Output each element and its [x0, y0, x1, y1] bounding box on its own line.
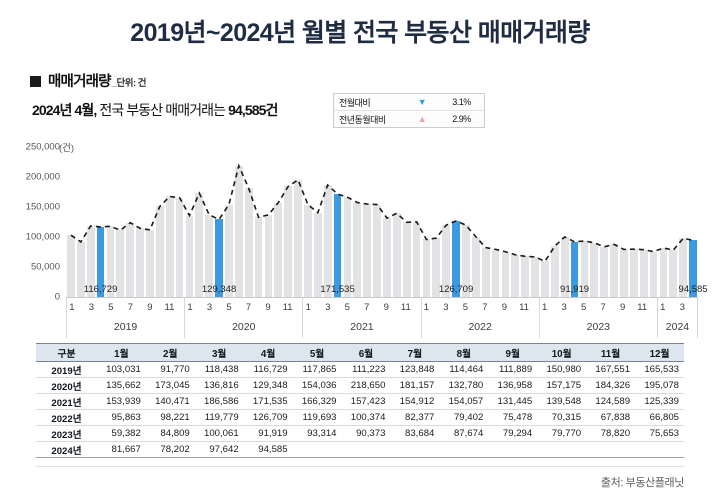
- bar: [383, 218, 391, 297]
- x-axis-tick: 9: [145, 302, 155, 313]
- bar-slot: [283, 147, 293, 297]
- bar: [610, 244, 618, 297]
- comparison-value-yoy: 2.9%: [439, 114, 484, 124]
- table-cell: 83,684: [390, 426, 439, 442]
- bar: [126, 223, 134, 297]
- bar-slot: [471, 147, 481, 297]
- bar-slot: [668, 147, 678, 297]
- bar: [324, 185, 332, 297]
- table-body: 2019년103,03191,770118,438116,729117,8651…: [36, 362, 684, 458]
- table-cell: [635, 442, 684, 458]
- bar: [531, 257, 539, 297]
- table-column-header: 10월: [537, 344, 586, 362]
- x-axis-tick: 5: [106, 302, 116, 313]
- bar-slot: [649, 147, 659, 297]
- bar-group: 116,729129,348171,535126,70991,91994,585: [66, 147, 698, 297]
- table-cell: 129,348: [244, 378, 293, 394]
- bar-slot: [343, 147, 353, 297]
- x-axis-year-group: 13579112020: [184, 298, 302, 338]
- y-axis-tick: 0: [55, 292, 60, 303]
- table-cell: 111,889: [488, 362, 537, 378]
- table-row-header: 2019년: [36, 362, 97, 378]
- bar-slot: [589, 147, 599, 297]
- y-axis: (건) 050,000100,000150,000200,000250,000: [0, 140, 66, 300]
- bar: [353, 203, 361, 297]
- bar: [502, 252, 510, 297]
- bar: [511, 255, 519, 297]
- bar-value-label: 129,348: [202, 284, 236, 295]
- triangle-up-icon: ▲: [405, 115, 439, 124]
- bar-slot: 116,729: [96, 147, 106, 297]
- y-axis-tick: 250,000: [26, 142, 60, 153]
- table-cell: 157,175: [537, 378, 586, 394]
- comparison-row-yoy: 전년동월대비 ▲ 2.9%: [334, 110, 484, 127]
- table-cell: 94,585: [244, 442, 293, 458]
- x-axis-year-label: 2020: [185, 317, 302, 333]
- bar-slot: [362, 147, 372, 297]
- table-cell: 131,445: [488, 394, 537, 410]
- x-axis-tick: 11: [283, 302, 293, 313]
- bar-slot: [501, 147, 511, 297]
- x-axis-tick: 11: [165, 302, 175, 313]
- bar-slot: [254, 147, 264, 297]
- x-axis-year-label: 2022: [422, 317, 539, 333]
- x-axis-tick: 1: [303, 302, 313, 313]
- table-cell: 79,402: [439, 410, 488, 426]
- table-cell: 66,805: [635, 410, 684, 426]
- table-column-header: 9월: [488, 344, 537, 362]
- bar: [373, 205, 381, 297]
- table-cell: 150,980: [537, 362, 586, 378]
- x-axis-tick: 7: [244, 302, 254, 313]
- bar-slot: [520, 147, 530, 297]
- bar-slot: [165, 147, 175, 297]
- table-cell: 87,674: [439, 426, 488, 442]
- x-axis-month-ticks: 1357911: [303, 298, 420, 317]
- table-cell: 117,865: [293, 362, 342, 378]
- bar-slot: [629, 147, 639, 297]
- bar: [255, 217, 263, 297]
- table-cell: 124,589: [586, 394, 635, 410]
- source-note: 출처: 부동산플래닛: [601, 474, 684, 490]
- x-axis-tick: 5: [579, 302, 589, 313]
- table-cell: 136,958: [488, 378, 537, 394]
- bar-slot: [510, 147, 520, 297]
- table-cell: 75,653: [635, 426, 684, 442]
- table-cell: 84,809: [146, 426, 195, 442]
- table-column-header: 11월: [586, 344, 635, 362]
- bar-slot: [382, 147, 392, 297]
- x-axis-tick: 3: [441, 302, 451, 313]
- summary-middle: 전국 부동산 매매거래는: [96, 102, 228, 118]
- table-cell: 78,202: [146, 442, 195, 458]
- x-axis-month-ticks: 1357911: [422, 298, 539, 317]
- table-cell: 132,780: [439, 378, 488, 394]
- table-column-header: 2월: [146, 344, 195, 362]
- bar-slot: [234, 147, 244, 297]
- x-axis-tick: 3: [677, 302, 687, 313]
- x-axis-tick: 1: [67, 302, 77, 313]
- table-cell: 218,650: [342, 378, 391, 394]
- x-axis-year-group: 13579112021: [302, 298, 420, 338]
- bar-slot: [491, 147, 501, 297]
- table-cell: 95,863: [97, 410, 146, 426]
- bar-slot: 171,535: [333, 147, 343, 297]
- bar-slot: [106, 147, 116, 297]
- x-axis-tick: 11: [519, 302, 529, 313]
- bar-slot: [194, 147, 204, 297]
- table-cell: 154,036: [293, 378, 342, 394]
- bar-slot: [244, 147, 254, 297]
- bar: [650, 252, 658, 297]
- bar-slot: [155, 147, 165, 297]
- comparison-label-yoy: 전년동월대비: [334, 113, 405, 126]
- bar: [363, 204, 371, 297]
- table-column-header: 6월: [342, 344, 391, 362]
- x-axis-year-label: 2024: [658, 317, 697, 333]
- summary-period: 2024년 4월,: [32, 102, 96, 118]
- bar-slot: [273, 147, 283, 297]
- bar-slot: [461, 147, 471, 297]
- table-column-header: 1월: [97, 344, 146, 362]
- bar-slot: [204, 147, 214, 297]
- table-cell: 154,912: [390, 394, 439, 410]
- table-cell: 75,478: [488, 410, 537, 426]
- x-axis-tick: 1: [540, 302, 550, 313]
- bar-slot: [560, 147, 570, 297]
- series-label: 매매거래량: [48, 70, 111, 91]
- x-axis-month-ticks: 13: [658, 298, 697, 317]
- bar-slot: [76, 147, 86, 297]
- bar-slot: 129,348: [214, 147, 224, 297]
- table-column-header: 8월: [439, 344, 488, 362]
- x-axis-tick: 3: [323, 302, 333, 313]
- bar: [116, 230, 124, 297]
- bar-slot: [580, 147, 590, 297]
- table-row: 2024년81,66778,20297,64294,585: [36, 442, 684, 458]
- table-row-header: 2024년: [36, 442, 97, 458]
- table-cell: 195,078: [635, 378, 684, 394]
- table-cell: [488, 442, 537, 458]
- bar: [551, 246, 559, 297]
- bar: [541, 261, 549, 297]
- bar-slot: [145, 147, 155, 297]
- x-axis: 1357911201913579112020135791120211357911…: [66, 298, 698, 338]
- bar-slot: [441, 147, 451, 297]
- table-corner-header: 구분: [36, 344, 97, 362]
- data-table: 구분 1월2월3월4월5월6월7월8월9월10월11월12월 2019년103,…: [36, 343, 684, 458]
- table-cell: 118,438: [195, 362, 244, 378]
- x-axis-tick: 9: [500, 302, 510, 313]
- bar-slot: [481, 147, 491, 297]
- bar: [492, 249, 500, 297]
- bar: [284, 186, 292, 297]
- table-column-header: 4월: [244, 344, 293, 362]
- plot-area: 116,729129,348171,535126,70991,91994,585: [66, 147, 698, 297]
- bar-slot: [175, 147, 185, 297]
- table-cell: 114,464: [439, 362, 488, 378]
- bar-slot: [530, 147, 540, 297]
- table-cell: 140,471: [146, 394, 195, 410]
- table-header-row: 구분 1월2월3월4월5월6월7월8월9월10월11월12월: [36, 344, 684, 362]
- table-cell: [586, 442, 635, 458]
- table-cell: [439, 442, 488, 458]
- y-axis-tick: 100,000: [26, 232, 60, 243]
- bar-slot: [264, 147, 274, 297]
- bar-slot: [540, 147, 550, 297]
- bar-slot: [224, 147, 234, 297]
- bar-slot: [135, 147, 145, 297]
- bar: [195, 193, 203, 297]
- table-cell: 78,820: [586, 426, 635, 442]
- bar: [640, 250, 648, 297]
- comparison-row-mom: 전월대비 ▼ 3.1%: [334, 94, 484, 110]
- x-axis-year-group: 13579112019: [66, 298, 184, 338]
- bar-slot: [66, 147, 76, 297]
- bar: [630, 249, 638, 297]
- x-axis-year-group: 13579112023: [539, 298, 657, 338]
- bar: [146, 230, 154, 297]
- table-cell: 126,709: [244, 410, 293, 426]
- table-cell: 123,848: [390, 362, 439, 378]
- table-cell: 79,294: [488, 426, 537, 442]
- comparison-value-mom: 3.1%: [439, 97, 484, 107]
- bar-slot: 91,919: [570, 147, 580, 297]
- page-title: 2019년~2024년 월별 전국 부동산 매매거래량: [0, 0, 720, 48]
- table-cell: 93,314: [293, 426, 342, 442]
- table-cell: 181,157: [390, 378, 439, 394]
- bar-slot: [372, 147, 382, 297]
- summary-value: 94,585건: [228, 102, 277, 118]
- bar-value-label: 116,729: [84, 284, 118, 295]
- table-cell: 116,729: [244, 362, 293, 378]
- x-axis-month-ticks: 1357911: [540, 298, 657, 317]
- table-column-header: 5월: [293, 344, 342, 362]
- x-axis-tick: 9: [618, 302, 628, 313]
- table-cell: 165,533: [635, 362, 684, 378]
- bar-slot: [659, 147, 669, 297]
- table-row-header: 2021년: [36, 394, 97, 410]
- y-axis-tick: 50,000: [31, 262, 60, 273]
- bar-value-label: 171,535: [320, 284, 354, 295]
- table-cell: 136,816: [195, 378, 244, 394]
- bar: [186, 216, 194, 297]
- table-row: 2019년103,03191,770118,438116,729117,8651…: [36, 362, 684, 378]
- bar-chart: (건) 050,000100,000150,000200,000250,000 …: [0, 140, 720, 338]
- bar-slot: [313, 147, 323, 297]
- bar: [67, 235, 75, 297]
- x-axis-tick: 1: [185, 302, 195, 313]
- bar: [669, 250, 677, 297]
- bar-slot: [402, 147, 412, 297]
- table-cell: 173,045: [146, 378, 195, 394]
- table-cell: 100,374: [342, 410, 391, 426]
- bar-slot: [125, 147, 135, 297]
- bar-value-label: 94,585: [679, 284, 708, 295]
- bar: [423, 239, 431, 297]
- triangle-down-icon: ▼: [405, 98, 439, 107]
- bar-slot: [115, 147, 125, 297]
- table-cell: 184,326: [586, 378, 635, 394]
- bar-highlighted: [334, 194, 342, 297]
- bar: [294, 180, 302, 297]
- x-axis-tick: 7: [598, 302, 608, 313]
- x-axis-tick: 5: [342, 302, 352, 313]
- table-cell: 135,662: [97, 378, 146, 394]
- table-column-header: 7월: [390, 344, 439, 362]
- summary-sentence: 2024년 4월, 전국 부동산 매매거래는 94,585건: [32, 100, 278, 120]
- bar: [166, 196, 174, 297]
- bar: [235, 166, 243, 297]
- bar: [245, 188, 253, 297]
- x-axis-tick: 9: [263, 302, 273, 313]
- bar-value-label: 91,919: [560, 284, 589, 295]
- table-row: 2022년95,86398,221119,779126,709119,69310…: [36, 410, 684, 426]
- x-axis-year-label: 2021: [303, 317, 420, 333]
- bar: [156, 206, 164, 297]
- table-row-header: 2022년: [36, 410, 97, 426]
- bar: [274, 203, 282, 297]
- bar: [176, 198, 184, 297]
- bar-slot: [678, 147, 688, 297]
- x-axis-tick: 7: [480, 302, 490, 313]
- x-axis-tick: 5: [461, 302, 471, 313]
- table-cell: 91,919: [244, 426, 293, 442]
- bar: [600, 247, 608, 297]
- comparison-box: 전월대비 ▼ 3.1% 전년동월대비 ▲ 2.9%: [333, 93, 485, 128]
- x-axis-tick: 7: [362, 302, 372, 313]
- x-axis-tick: 3: [205, 302, 215, 313]
- x-axis-month-ticks: 1357911: [67, 298, 184, 317]
- bar-slot: [550, 147, 560, 297]
- table-row: 2020년135,662173,045136,816129,348154,036…: [36, 378, 684, 394]
- table-cell: 186,586: [195, 394, 244, 410]
- x-axis-tick: 5: [224, 302, 234, 313]
- table-cell: 167,551: [586, 362, 635, 378]
- bar-slot: [86, 147, 96, 297]
- table-row-header: 2020년: [36, 378, 97, 394]
- bar-slot: [185, 147, 195, 297]
- bar: [413, 222, 421, 297]
- y-axis-tick: 150,000: [26, 202, 60, 213]
- x-axis-tick: 3: [559, 302, 569, 313]
- bar: [265, 215, 273, 297]
- table-cell: 91,770: [146, 362, 195, 378]
- x-axis-year-label: 2019: [67, 317, 184, 333]
- bar-slot: [392, 147, 402, 297]
- bar: [620, 249, 628, 297]
- table-row-header: 2023년: [36, 426, 97, 442]
- table-row: 2023년59,38284,809100,06191,91993,31490,3…: [36, 426, 684, 442]
- y-axis-tick: 200,000: [26, 172, 60, 183]
- bar: [590, 243, 598, 297]
- table-cell: 119,779: [195, 410, 244, 426]
- bar: [482, 248, 490, 297]
- bar-slot: 94,585: [688, 147, 698, 297]
- table-cell: [537, 442, 586, 458]
- table-cell: 125,339: [635, 394, 684, 410]
- table-cell: [390, 442, 439, 458]
- x-axis-year-label: 2023: [540, 317, 657, 333]
- table-row: 2021년153,939140,471186,586171,535166,329…: [36, 394, 684, 410]
- bar-slot: [639, 147, 649, 297]
- bar-slot: [619, 147, 629, 297]
- bar-slot: [609, 147, 619, 297]
- table-cell: 67,838: [586, 410, 635, 426]
- table-cell: 59,382: [97, 426, 146, 442]
- table-cell: 171,535: [244, 394, 293, 410]
- bar-slot: [431, 147, 441, 297]
- table-cell: [293, 442, 342, 458]
- square-bullet-icon: [30, 76, 41, 87]
- x-axis-tick: 1: [658, 302, 668, 313]
- bar: [660, 248, 668, 297]
- series-unit: _단위: 건: [112, 75, 146, 89]
- table-cell: 98,221: [146, 410, 195, 426]
- bar-slot: [422, 147, 432, 297]
- bar: [521, 256, 529, 297]
- table-cell: 97,642: [195, 442, 244, 458]
- x-axis-year-group: 132024: [657, 298, 698, 338]
- table-cell: 139,548: [537, 394, 586, 410]
- table-cell: 154,057: [439, 394, 488, 410]
- table-cell: 100,061: [195, 426, 244, 442]
- chart-series-legend: 매매거래량 _단위: 건: [30, 70, 146, 91]
- table-cell: 79,770: [537, 426, 586, 442]
- x-axis-tick: 7: [126, 302, 136, 313]
- comparison-label-mom: 전월대비: [334, 96, 405, 109]
- x-axis-tick: 3: [87, 302, 97, 313]
- table-cell: 153,939: [97, 394, 146, 410]
- table-cell: [342, 442, 391, 458]
- x-axis-tick: 11: [401, 302, 411, 313]
- bar: [393, 213, 401, 297]
- table-cell: 111,223: [342, 362, 391, 378]
- bar-slot: [352, 147, 362, 297]
- footer-divider: [36, 466, 684, 467]
- table-head: 구분 1월2월3월4월5월6월7월8월9월10월11월12월: [36, 344, 684, 362]
- table-cell: 90,373: [342, 426, 391, 442]
- x-axis-tick: 1: [422, 302, 432, 313]
- table-column-header: 3월: [195, 344, 244, 362]
- bar-slot: 126,709: [451, 147, 461, 297]
- bar-slot: [412, 147, 422, 297]
- table-cell: 166,329: [293, 394, 342, 410]
- x-axis-month-ticks: 1357911: [185, 298, 302, 317]
- bar-slot: [293, 147, 303, 297]
- table-cell: 119,693: [293, 410, 342, 426]
- bar: [136, 228, 144, 297]
- x-axis-tick: 11: [637, 302, 647, 313]
- table-cell: 103,031: [97, 362, 146, 378]
- x-axis-tick: 9: [381, 302, 391, 313]
- table-cell: 70,315: [537, 410, 586, 426]
- x-axis-year-group: 13579112022: [421, 298, 539, 338]
- table-column-header: 12월: [635, 344, 684, 362]
- table-cell: 157,423: [342, 394, 391, 410]
- bar-slot: [303, 147, 313, 297]
- table-cell: 82,377: [390, 410, 439, 426]
- bar: [344, 197, 352, 297]
- bar-slot: [323, 147, 333, 297]
- bar-slot: [599, 147, 609, 297]
- bar: [403, 222, 411, 297]
- table-cell: 81,667: [97, 442, 146, 458]
- bar-value-label: 126,709: [439, 284, 473, 295]
- bar: [304, 205, 312, 297]
